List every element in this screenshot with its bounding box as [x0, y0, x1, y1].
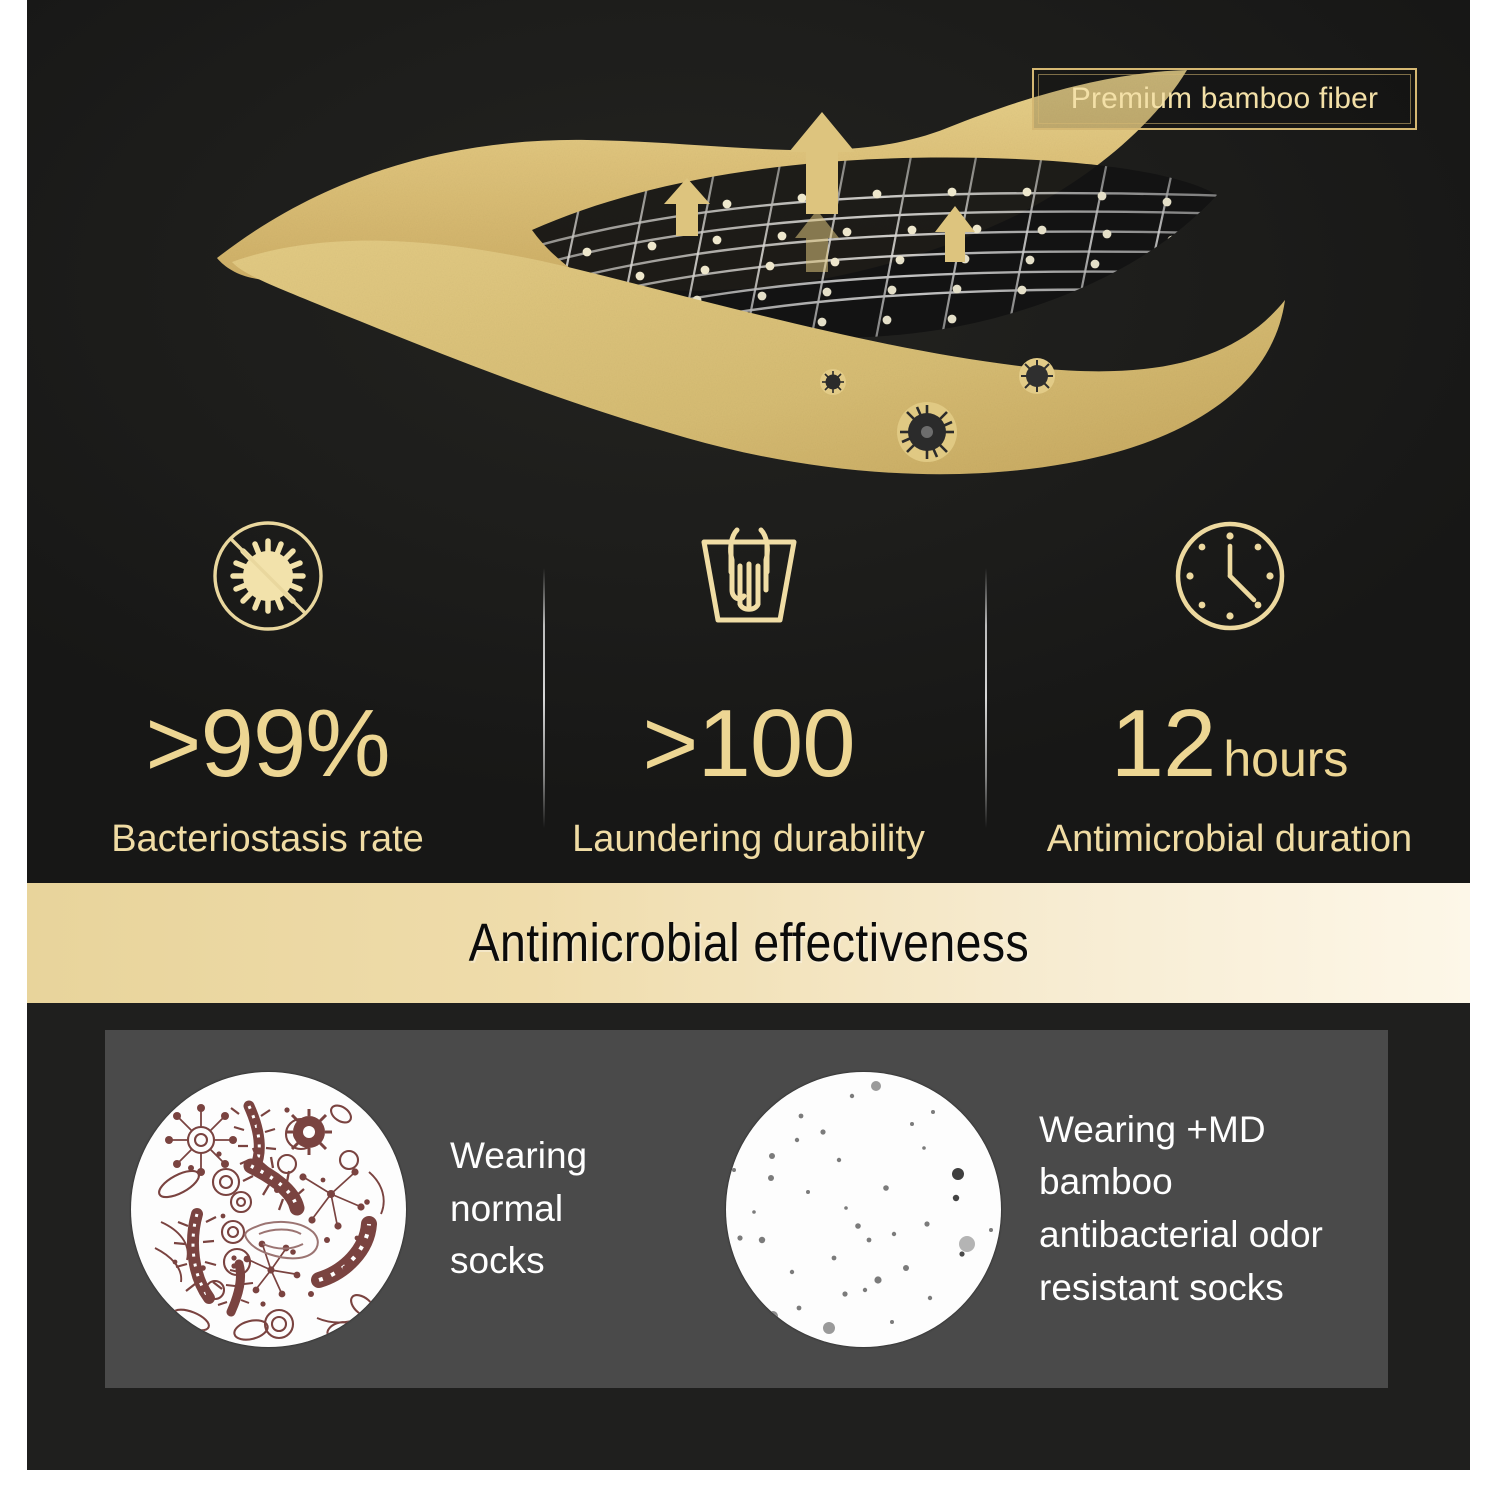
- stat-value-text-3: 12: [1111, 696, 1216, 792]
- badge-label: Premium bamboo fiber: [1071, 82, 1378, 116]
- hand-wash-icon: [684, 516, 814, 636]
- clean-dish-specks: [726, 1072, 1001, 1347]
- clock-icon: [1170, 516, 1290, 636]
- coccus-cells: [206, 1119, 358, 1338]
- stat-icon-wrap-1: [208, 512, 328, 640]
- stat-value-text-1: >99%: [145, 696, 389, 792]
- stat-laundering-durability: >100 Laundering durability: [508, 480, 989, 883]
- protozoan: [245, 1221, 318, 1257]
- spiky-radial-cell: [286, 1109, 332, 1155]
- germ-small-left: [820, 369, 846, 395]
- infographic-poster: Premium bamboo fiber: [27, 0, 1470, 1470]
- stat-label-2: Laundering durability: [572, 818, 925, 861]
- spore-cluster-c: [244, 1240, 301, 1297]
- stat-value-1: >99%: [145, 696, 389, 792]
- dish-wrap-right: [726, 1072, 1001, 1347]
- stat-value-2: >100: [642, 696, 854, 792]
- spore-cluster-a: [165, 1104, 237, 1176]
- caption-bamboo-socks: Wearing +MD bamboo antibacterial odor re…: [1039, 1104, 1394, 1314]
- germ-medium-right: [1019, 358, 1055, 394]
- premium-bamboo-fiber-badge: Premium bamboo fiber: [1032, 68, 1417, 130]
- comma-bacteria-right: [319, 1224, 369, 1280]
- dish-wrap-left: [131, 1072, 406, 1347]
- antimicrobial-effectiveness-banner: Antimicrobial effectiveness: [27, 883, 1470, 1003]
- stat-antimicrobial-duration: 12 hours Antimicrobial duration: [989, 480, 1470, 883]
- stat-icon-wrap-2: [684, 512, 814, 640]
- no-germ-icon: [208, 516, 328, 636]
- stat-unit-3: hours: [1223, 734, 1348, 784]
- caption-normal-socks: Wearing normal socks: [450, 1130, 700, 1288]
- comparison-panel: Wearing normal socks: [105, 1030, 1388, 1388]
- petri-dish-clean: [726, 1072, 1001, 1347]
- comparison-section: Wearing normal socks: [27, 1003, 1470, 1470]
- petri-dish-heavy-bacteria: [131, 1072, 406, 1347]
- stat-bacteriostasis-rate: >99% Bacteriostasis rate: [27, 480, 508, 883]
- stat-value-3: 12 hours: [1111, 696, 1349, 792]
- stat-value-text-2: >100: [642, 696, 854, 792]
- spore-cluster-b: [299, 1168, 364, 1229]
- stat-icon-wrap-3: [1170, 512, 1290, 640]
- stats-section: >99% Bacteriostasis rate: [27, 480, 1470, 883]
- stat-label-3: Antimicrobial duration: [1047, 818, 1412, 861]
- bacteria-colony-illustration: [131, 1072, 406, 1347]
- germ-large-center: [897, 402, 957, 462]
- stat-label-1: Bacteriostasis rate: [111, 818, 424, 861]
- banner-title: Antimicrobial effectiveness: [468, 912, 1029, 974]
